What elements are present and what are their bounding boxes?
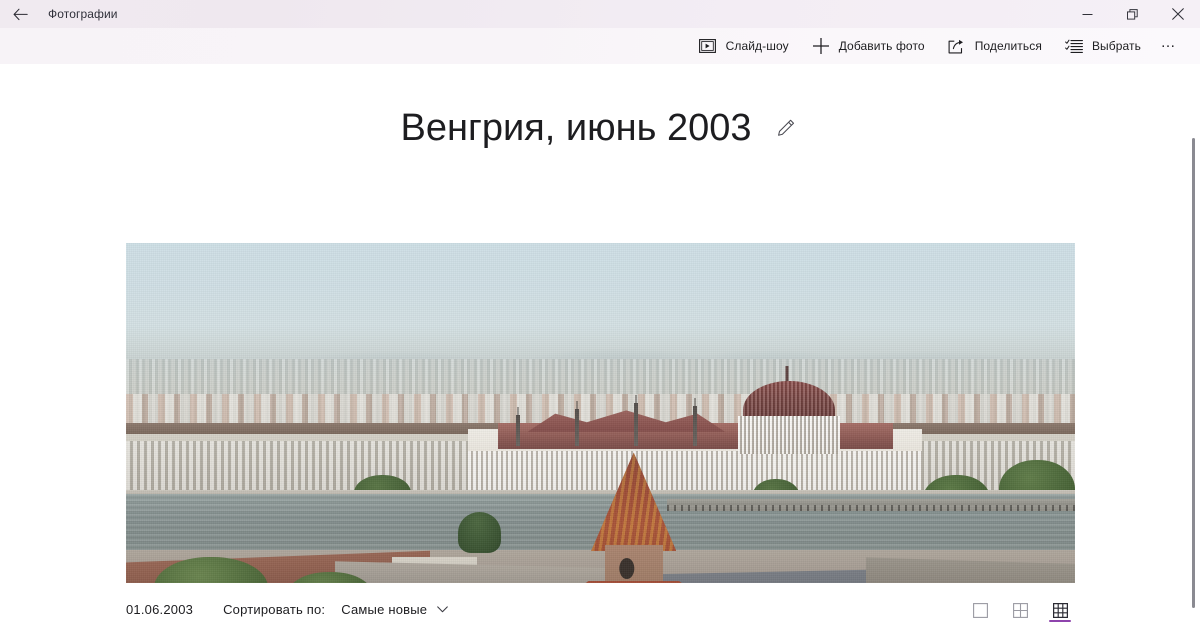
close-icon — [1172, 8, 1184, 20]
album-title: Венгрия, июнь 2003 — [401, 109, 752, 147]
title-bar: Фотографии — [0, 0, 1200, 28]
album-cover-photo[interactable] — [126, 243, 1075, 617]
single-square-icon — [973, 603, 988, 618]
command-bar: Слайд-шоу Добавить фото Поделиться — [0, 28, 1200, 64]
share-label: Поделиться — [975, 39, 1042, 53]
window-controls — [1065, 0, 1200, 28]
edit-title-button[interactable] — [773, 115, 799, 141]
select-label: Выбрать — [1092, 39, 1141, 53]
photo-gothic-spire-2 — [634, 403, 638, 446]
select-checklist-icon — [1064, 36, 1084, 56]
grid-3x3-icon — [1053, 603, 1068, 618]
add-photo-button[interactable]: Добавить фото — [800, 28, 936, 64]
photo-tower-roof — [591, 452, 676, 551]
sort-group: Сортировать по: Самые новые — [223, 598, 454, 621]
photo-gothic-spire-3 — [693, 406, 697, 446]
sort-by-label: Сортировать по: — [223, 602, 325, 617]
chevron-down-icon — [437, 606, 448, 613]
more-ellipsis-icon: … — [1161, 34, 1178, 51]
minimize-button[interactable] — [1065, 0, 1110, 28]
slideshow-label: Слайд-шоу — [726, 39, 789, 53]
add-photo-label: Добавить фото — [839, 39, 925, 53]
album-content-area: Венгрия, июнь 2003 — [0, 64, 1200, 635]
view-mode-medium-button[interactable] — [1006, 594, 1034, 624]
back-button[interactable] — [0, 0, 40, 28]
view-size-group — [966, 594, 1074, 624]
photo-budapest-parliament — [126, 243, 1075, 617]
pencil-edit-icon — [776, 118, 796, 138]
view-mode-small-button[interactable] — [1046, 594, 1074, 624]
photo-parliament-building — [449, 366, 942, 508]
more-options-button[interactable]: … — [1152, 28, 1186, 64]
photo-gothic-spire-4 — [516, 415, 520, 446]
photo-parliament-dome — [725, 366, 853, 454]
photos-app-window: Фотографии — [0, 0, 1200, 635]
photo-date-label: 01.06.2003 — [126, 602, 193, 617]
photo-gothic-spire-1 — [575, 409, 579, 446]
slideshow-button[interactable]: Слайд-шоу — [687, 28, 800, 64]
sort-by-dropdown[interactable]: Самые новые — [335, 598, 454, 621]
sort-by-value: Самые новые — [341, 602, 427, 617]
scrollbar-thumb[interactable] — [1192, 138, 1195, 608]
share-icon — [947, 36, 967, 56]
slideshow-icon — [698, 36, 718, 56]
album-header: Венгрия, июнь 2003 — [0, 64, 1200, 156]
app-title: Фотографии — [48, 7, 118, 21]
restore-icon — [1127, 9, 1138, 20]
select-button[interactable]: Выбрать — [1053, 28, 1152, 64]
plus-icon — [811, 36, 831, 56]
minimize-icon — [1082, 9, 1093, 20]
view-mode-large-button[interactable] — [966, 594, 994, 624]
share-button[interactable]: Поделиться — [936, 28, 1053, 64]
photo-dome-drum — [738, 416, 841, 455]
view-mode-selected-indicator — [1049, 620, 1071, 622]
restore-button[interactable] — [1110, 0, 1155, 28]
vertical-scrollbar[interactable] — [1186, 128, 1200, 635]
back-arrow-icon — [13, 8, 28, 21]
photo-tree-3 — [458, 512, 501, 553]
close-button[interactable] — [1155, 0, 1200, 28]
photo-bridge — [667, 499, 1075, 511]
grid-2x2-icon — [1013, 603, 1028, 618]
album-bottom-bar: 01.06.2003 Сортировать по: Самые новые — [0, 583, 1200, 635]
